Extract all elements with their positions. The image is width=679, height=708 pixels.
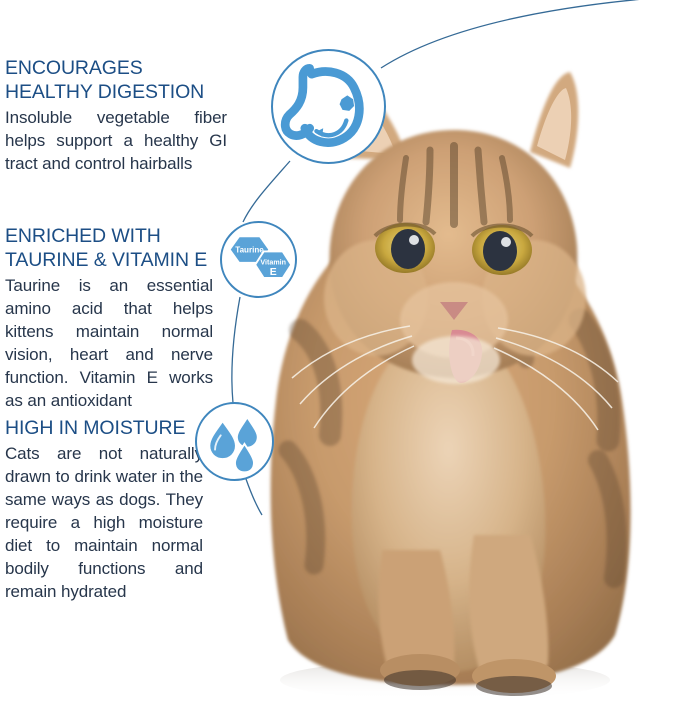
cat-muzzle [400, 282, 508, 384]
droplet-top-right [237, 417, 258, 447]
feature-body-digestion: Insoluble vegetable fiber helps support … [5, 106, 227, 175]
droplet-large [209, 421, 236, 459]
stomach-icon [271, 49, 386, 164]
cat-ground-shadow [280, 660, 610, 700]
connector-moisture-tail [246, 479, 262, 515]
droplet-bottom-right [235, 444, 254, 472]
connector-digestion-to-taurine [243, 161, 290, 222]
cat-eyes [375, 223, 532, 275]
feature-heading-taurine: ENRICHED WITH TAURINE & VITAMIN E [5, 224, 227, 272]
cat-tongue [449, 330, 482, 383]
hexagon-e-label: E [270, 267, 277, 278]
cat-body [271, 205, 631, 685]
feature-body-taurine: Taurine is an essential amino acid that … [5, 274, 213, 412]
feature-block-digestion: ENCOURAGES HEALTHY DIGESTION Insoluble v… [5, 56, 227, 175]
cat-whiskers [292, 326, 618, 430]
hexagon-taurine-label: Taurine [235, 245, 264, 254]
feature-block-taurine: ENRICHED WITH TAURINE & VITAMIN E Taurin… [5, 224, 227, 412]
cat-front-legs [379, 535, 556, 696]
feature-body-moisture: Cats are not naturally drawn to drink wa… [5, 442, 203, 603]
product-feature-infographic: Taurine Vitamin E ENCOURAGES HEALTHY DIG… [0, 0, 679, 708]
feature-block-moisture: HIGH IN MOISTURE Cats are not naturally … [5, 416, 227, 603]
feature-heading-digestion: ENCOURAGES HEALTHY DIGESTION [5, 56, 227, 104]
water-droplets-icon [195, 402, 274, 481]
cat-nose [440, 302, 468, 320]
cat-body-stripes [288, 245, 617, 578]
connector-taurine-to-moisture [232, 297, 240, 403]
taurine-vitamin-hexagons-icon: Taurine Vitamin E [220, 221, 297, 298]
feature-heading-moisture: HIGH IN MOISTURE [5, 416, 227, 440]
cat-chest [352, 330, 546, 672]
connector-top-curve [381, 0, 679, 68]
hexagon-vitamin-label: Vitamin [260, 259, 286, 267]
cat-forehead-stripes [400, 146, 510, 224]
hexagon-vitamin-e: Vitamin E [255, 251, 291, 278]
cat-head [324, 130, 586, 378]
